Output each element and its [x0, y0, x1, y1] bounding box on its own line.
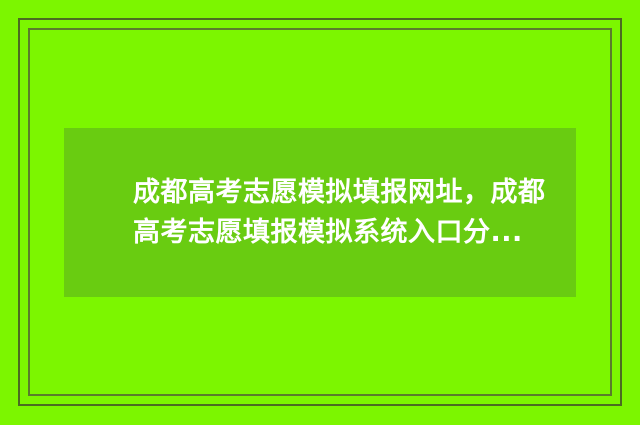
placeholder-canvas: 成都高考志愿模拟填报网址，成都 高考志愿填报模拟系统入口分... [0, 0, 640, 425]
caption-band: 成都高考志愿模拟填报网址，成都 高考志愿填报模拟系统入口分... [64, 128, 576, 297]
caption-title-text: 成都高考志愿模拟填报网址，成都 高考志愿填报模拟系统入口分... [64, 173, 576, 253]
